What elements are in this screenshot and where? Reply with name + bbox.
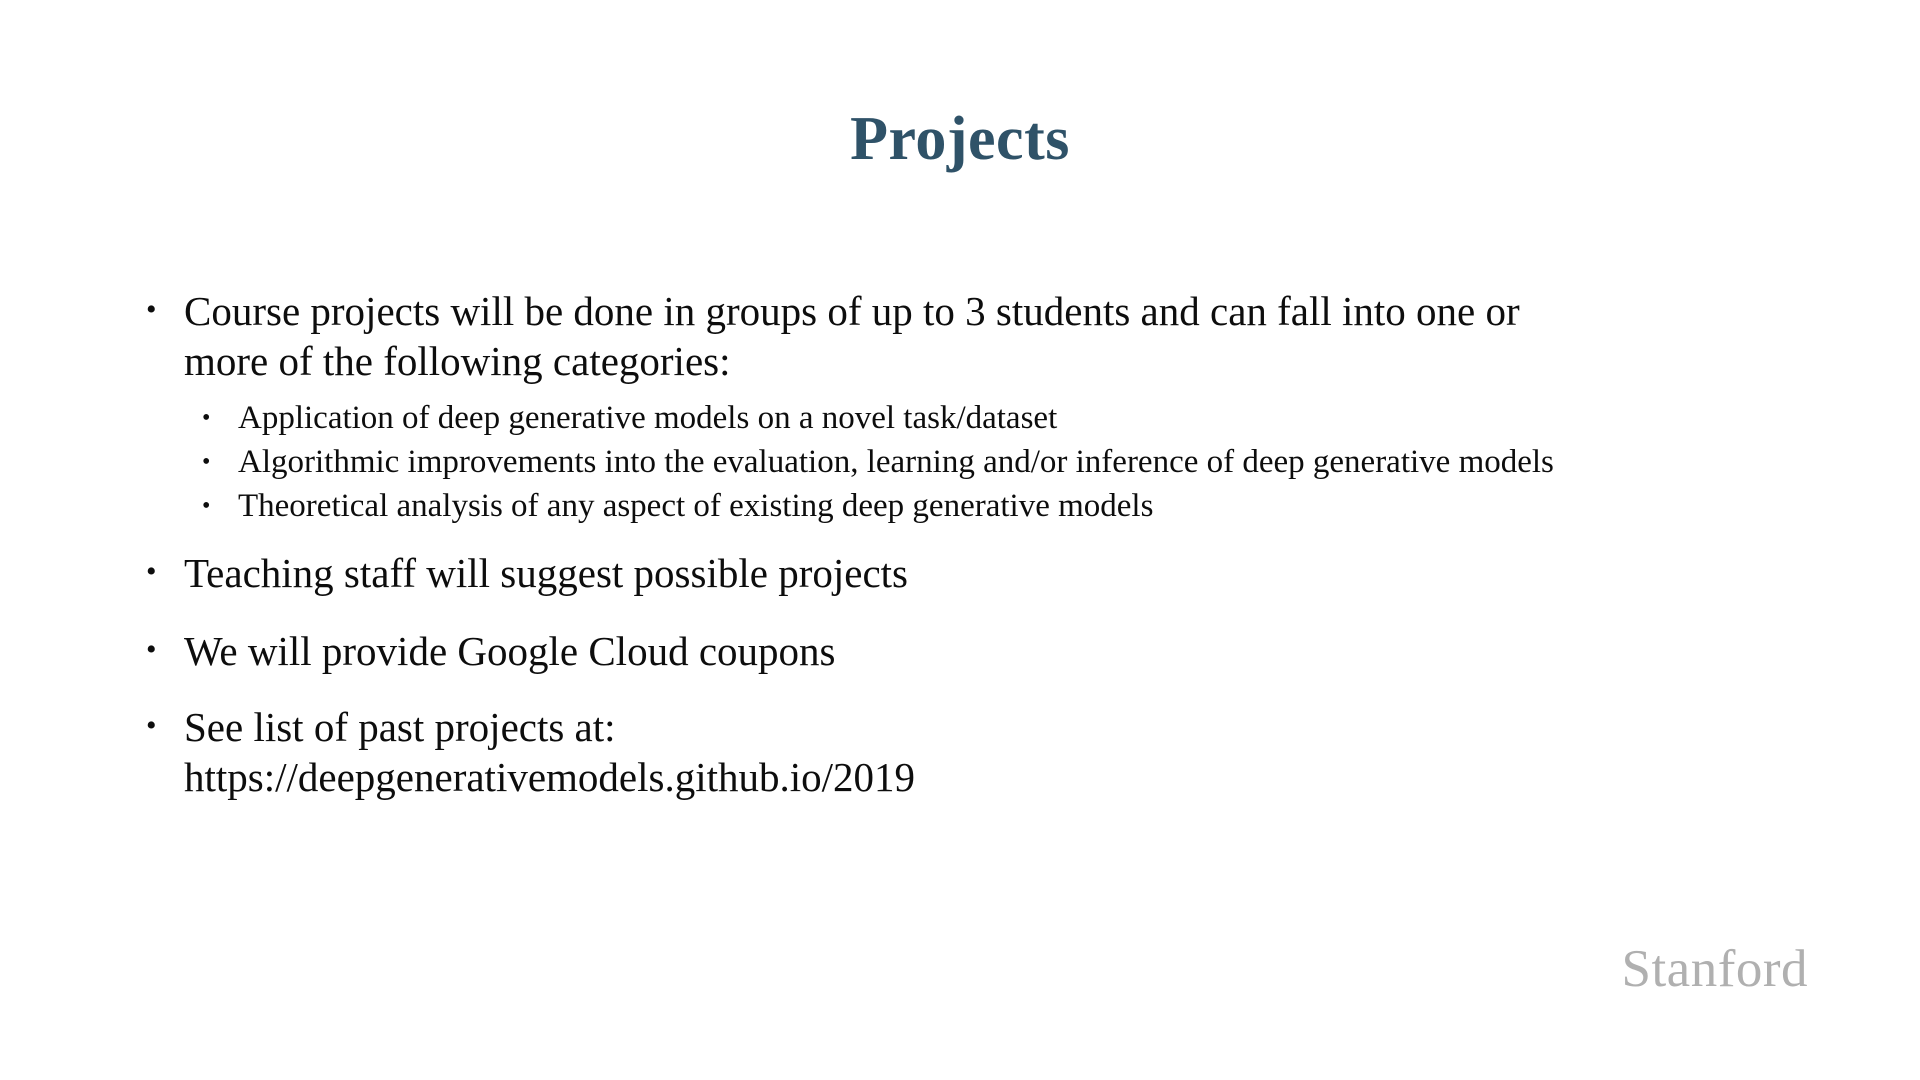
bullet-text: Course projects will be done in groups o… — [184, 286, 1604, 386]
bullet-marker-icon: • — [202, 486, 210, 527]
bullet-marker-icon: • — [146, 286, 157, 335]
bullet-marker-icon: • — [146, 702, 157, 751]
sub-bullet-item: • Application of deep generative models … — [140, 398, 1780, 440]
bullet-text: We will provide Google Cloud coupons — [184, 626, 1604, 676]
bullet-text: See list of past projects at: — [184, 704, 616, 750]
bullet-item: • See list of past projects at: https://… — [140, 702, 1780, 802]
sub-bullet-item: • Theoretical analysis of any aspect of … — [140, 486, 1780, 528]
presentation-slide: Projects • Course projects will be done … — [0, 0, 1920, 1080]
bullet-item: • We will provide Google Cloud coupons — [140, 626, 1780, 676]
stanford-wordmark: Stanford — [1621, 943, 1808, 996]
project-list-url[interactable]: https://deepgenerativemodels.github.io/2… — [184, 752, 1604, 802]
sub-bullet-text: Algorithmic improvements into the evalua… — [238, 442, 1668, 484]
sub-bullet-text: Application of deep generative models on… — [238, 398, 1668, 440]
bullet-marker-icon: • — [146, 626, 157, 675]
bullet-marker-icon: • — [202, 398, 210, 439]
bullet-marker-icon: • — [146, 548, 157, 597]
page-title: Projects — [0, 108, 1920, 170]
sub-bullet-text: Theoretical analysis of any aspect of ex… — [238, 486, 1668, 528]
bullet-text-group: See list of past projects at: https://de… — [184, 702, 1604, 802]
bullet-marker-icon: • — [202, 442, 210, 483]
slide-body: • Course projects will be done in groups… — [140, 286, 1780, 814]
bullet-item: • Teaching staff will suggest possible p… — [140, 548, 1780, 598]
spacer — [140, 538, 1780, 548]
sub-bullet-item: • Algorithmic improvements into the eval… — [140, 442, 1780, 484]
sub-bullet-list: • Application of deep generative models … — [140, 398, 1780, 528]
bullet-item: • Course projects will be done in groups… — [140, 286, 1780, 386]
bullet-text: Teaching staff will suggest possible pro… — [184, 548, 1604, 598]
